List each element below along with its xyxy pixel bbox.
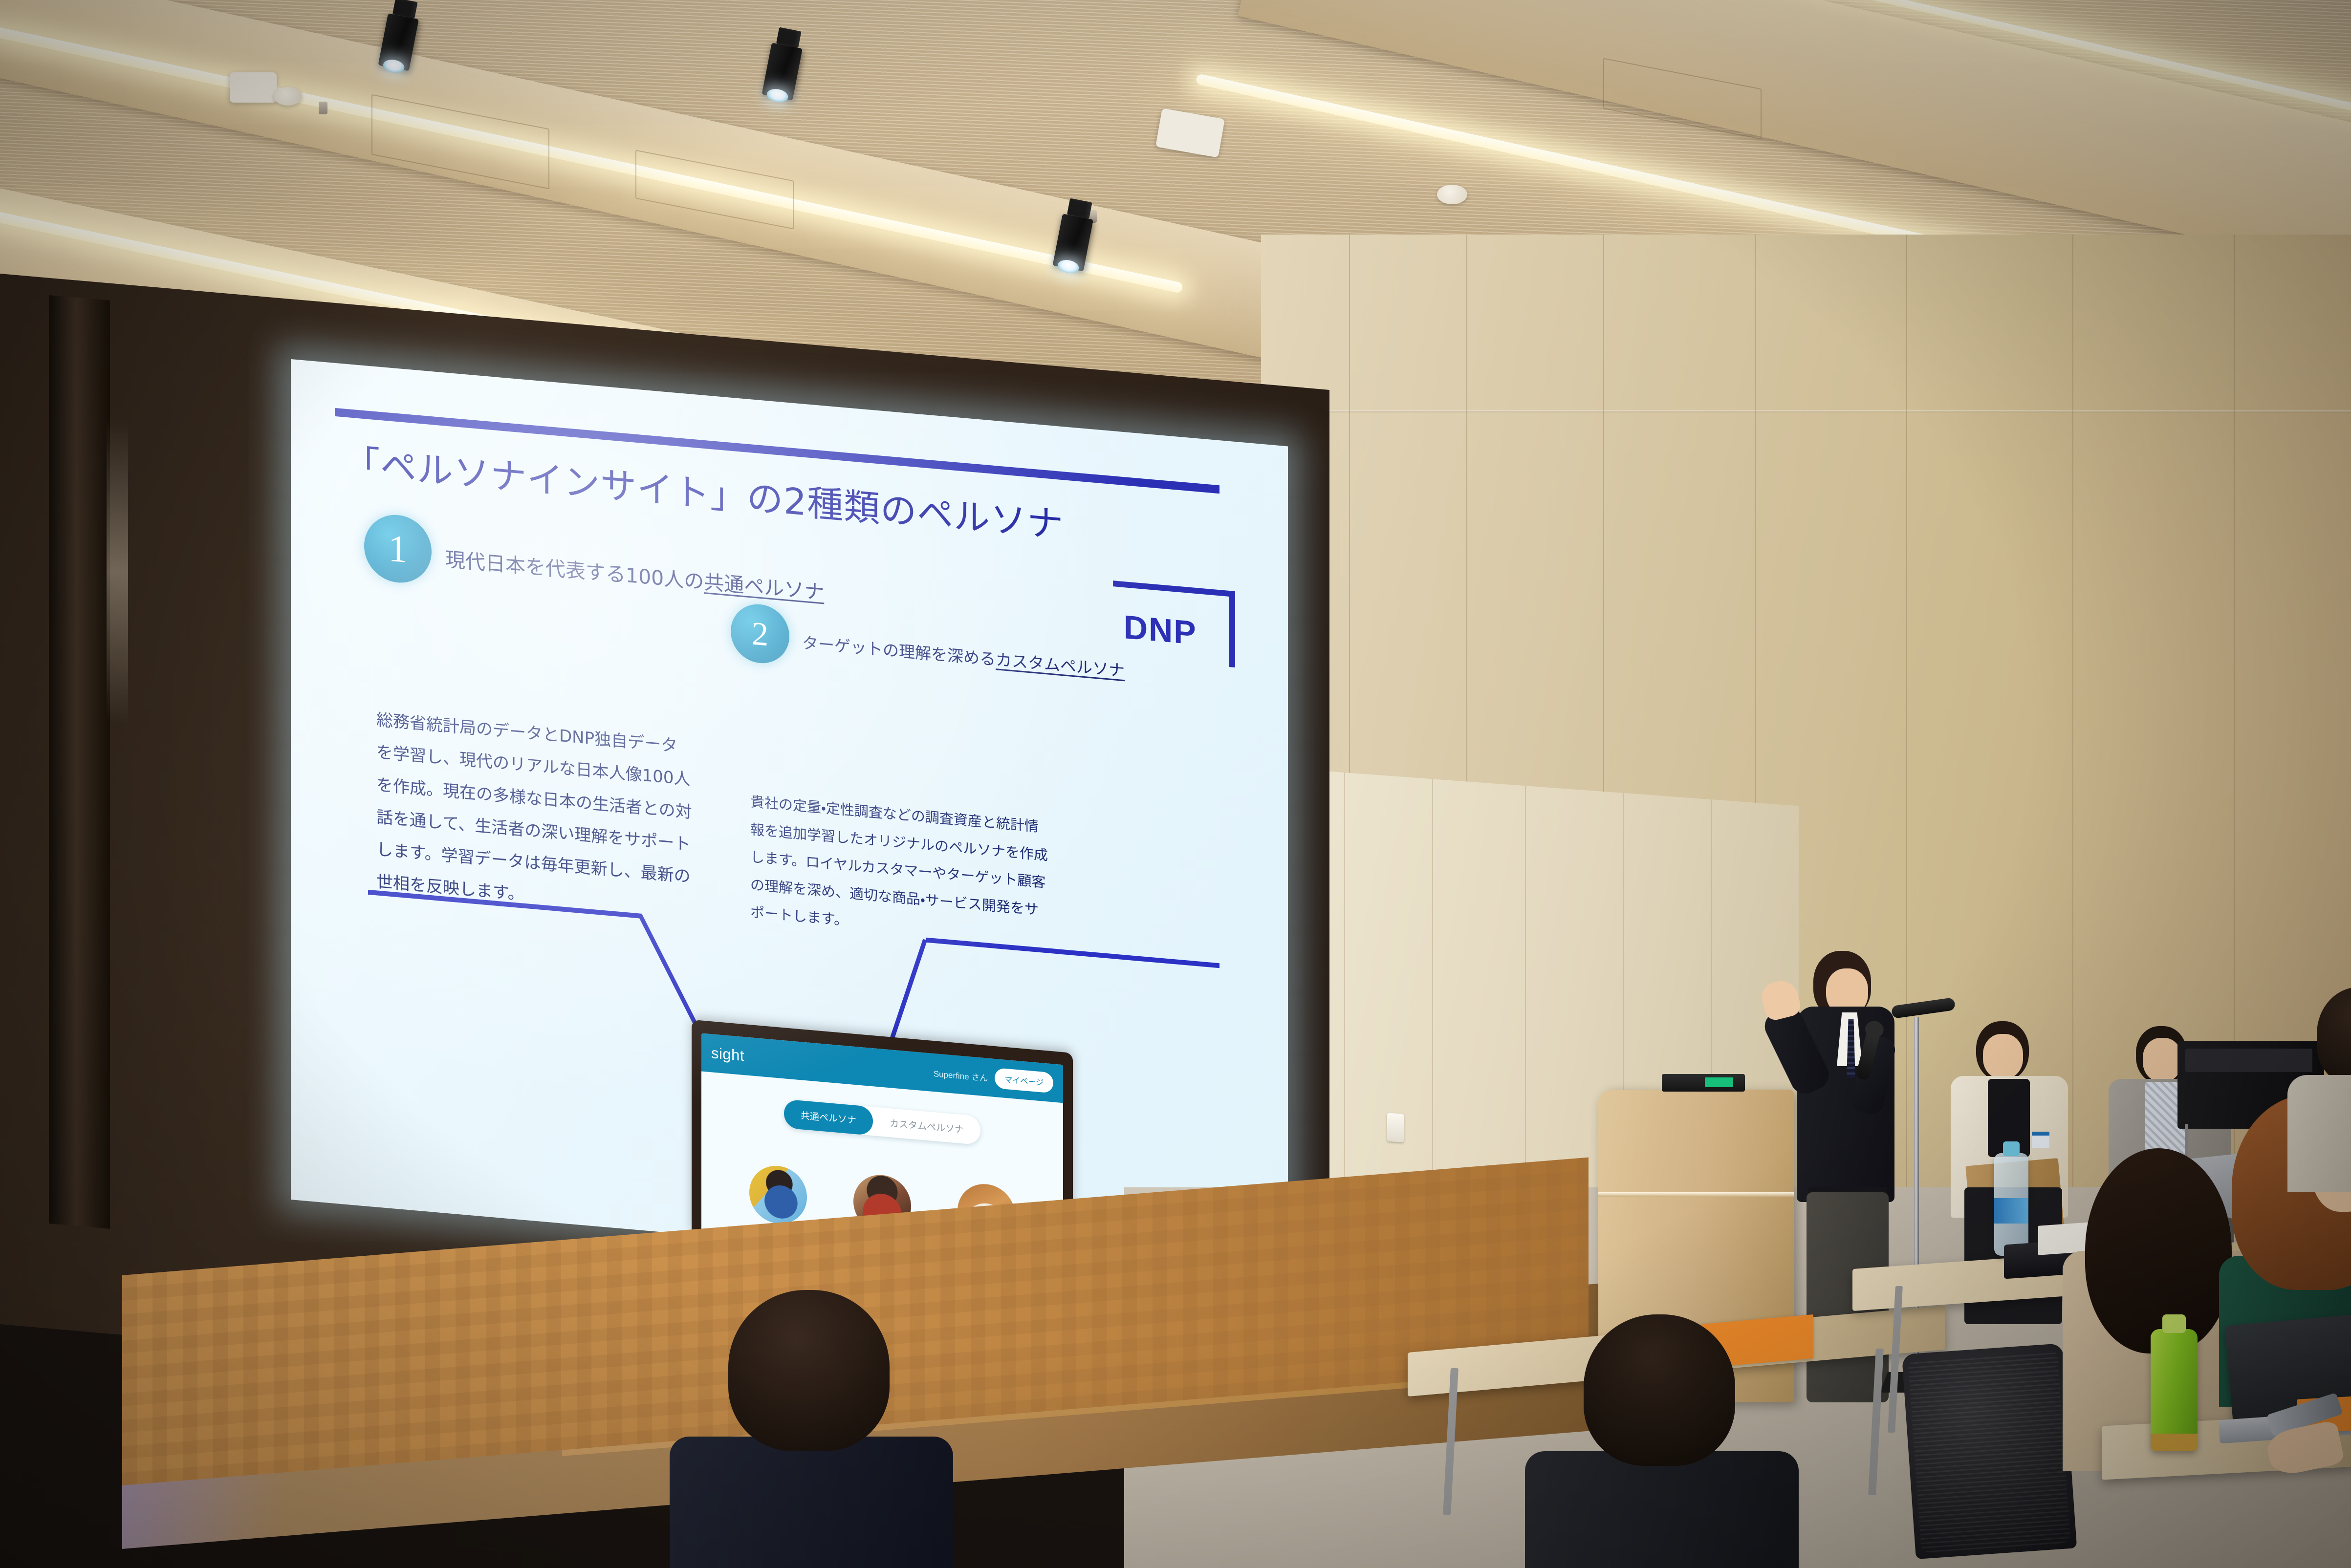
ceiling-speaker-icon xyxy=(230,72,277,103)
section-heading-1-plain: 現代日本を代表する100人の xyxy=(445,548,704,594)
app-user-name: Superfine さん xyxy=(934,1067,988,1084)
section-heading-2-plain: ターゲットの理解を深める xyxy=(802,633,996,669)
app-header-bar: sight Superfine さん マイページ xyxy=(701,1033,1063,1103)
presentation-room-photo: 「ペルソナインサイト」の2種類のペルソナ DNP 1 現代日本を代表する100人… xyxy=(0,0,2351,1568)
wall-reflection xyxy=(107,419,128,724)
audience-member-foreground-center xyxy=(1505,1314,1818,1568)
section-heading-1: 現代日本を代表する100人の共通ペルソナ xyxy=(445,543,824,605)
section-number-badge-2: 2 xyxy=(731,602,789,666)
water-bottle[interactable] xyxy=(1994,1153,2028,1256)
section-number-badge-1: 1 xyxy=(364,512,432,585)
audience-member-far-right xyxy=(2283,987,2351,1192)
lectern-control-panel[interactable] xyxy=(1662,1074,1745,1092)
audience-member-foreground-left xyxy=(640,1290,982,1568)
section-body-1: 総務省統計局のデータとDNP独自データを学習し、現代のリアルな日本人像100人を… xyxy=(376,704,694,926)
app-logo-text: sight xyxy=(711,1044,744,1065)
projection-screen: 「ペルソナインサイト」の2種類のペルソナ DNP 1 現代日本を代表する100人… xyxy=(291,359,1288,1287)
dnp-logo: DNP xyxy=(1113,580,1235,667)
connector-rule-2 xyxy=(926,938,1219,968)
green-tea-bottle[interactable] xyxy=(2151,1329,2198,1451)
section-heading-2-emph: カスタムペルソナ xyxy=(996,650,1125,680)
section-heading-1-emph: 共通ペルソナ xyxy=(704,570,824,604)
toggle-option-common-persona[interactable]: 共通ペルソナ xyxy=(784,1099,873,1136)
ceiling-dome-icon xyxy=(274,87,302,106)
app-user-area: Superfine さん マイページ xyxy=(934,1062,1053,1093)
page-title: 「ペルソナインサイト」の2種類のペルソナ xyxy=(344,433,1064,548)
toggle-option-custom-persona[interactable]: カスタムペルソナ xyxy=(873,1107,980,1145)
mypage-button[interactable]: マイページ xyxy=(995,1068,1053,1093)
section-body-2: 貴社の定量・定性調査などの調査資産と統計情報を追加学習したオリジナルのペルソナを… xyxy=(750,788,1048,952)
section-heading-2: ターゲットの理解を深めるカスタムペルソナ xyxy=(802,630,1125,682)
persona-type-toggle[interactable]: 共通ペルソナ カスタムペルソナ xyxy=(784,1099,980,1145)
ceiling-dome-icon xyxy=(1437,185,1467,204)
light-switch[interactable] xyxy=(1387,1113,1404,1142)
avatar[interactable] xyxy=(749,1163,807,1226)
presentation-slide: 「ペルソナインサイト」の2種類のペルソナ DNP 1 現代日本を代表する100人… xyxy=(291,359,1288,1287)
dnp-logo-text: DNP xyxy=(1124,608,1197,652)
dark-wall-edge xyxy=(49,295,110,1229)
sprinkler-icon xyxy=(319,102,327,114)
